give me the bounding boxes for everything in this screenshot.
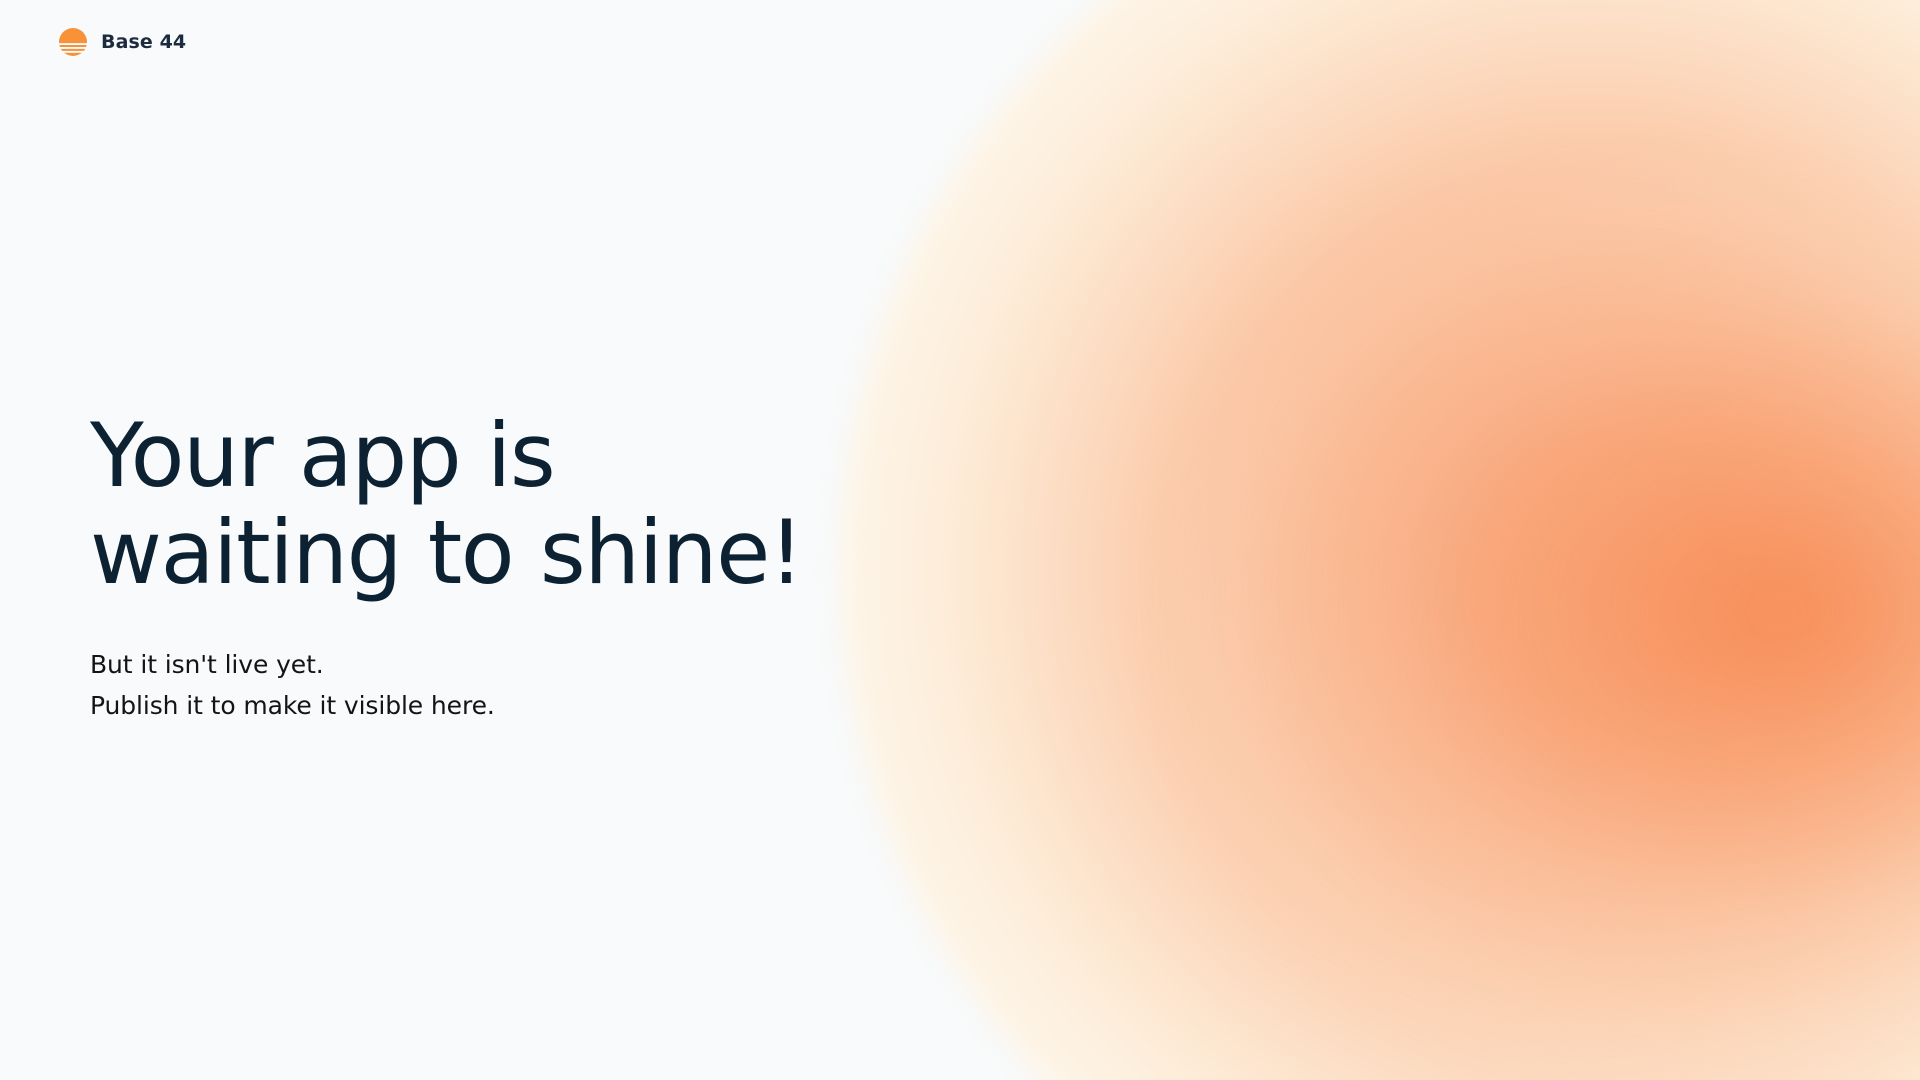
page-subtitle-line-1: But it isn't live yet.	[90, 644, 803, 685]
page-header: Base 44	[0, 0, 186, 57]
glow-cream-top	[1220, 0, 1920, 540]
page-subtitle: But it isn't live yet. Publish it to mak…	[90, 644, 803, 726]
page-title-line-1: Your app is	[90, 408, 803, 505]
hero-section: Your app is waiting to shine! But it isn…	[90, 408, 803, 726]
page-subtitle-line-2: Publish it to make it visible here.	[90, 685, 803, 726]
page-title-line-2: waiting to shine!	[90, 505, 803, 602]
sunset-sun-icon	[58, 27, 88, 57]
page-title: Your app is waiting to shine!	[90, 408, 803, 602]
brand-name: Base 44	[101, 31, 186, 53]
glow-warm-center	[1180, 180, 1920, 1080]
glow-core	[840, 0, 1920, 1080]
glow-cream-bottom	[1200, 560, 1920, 1080]
